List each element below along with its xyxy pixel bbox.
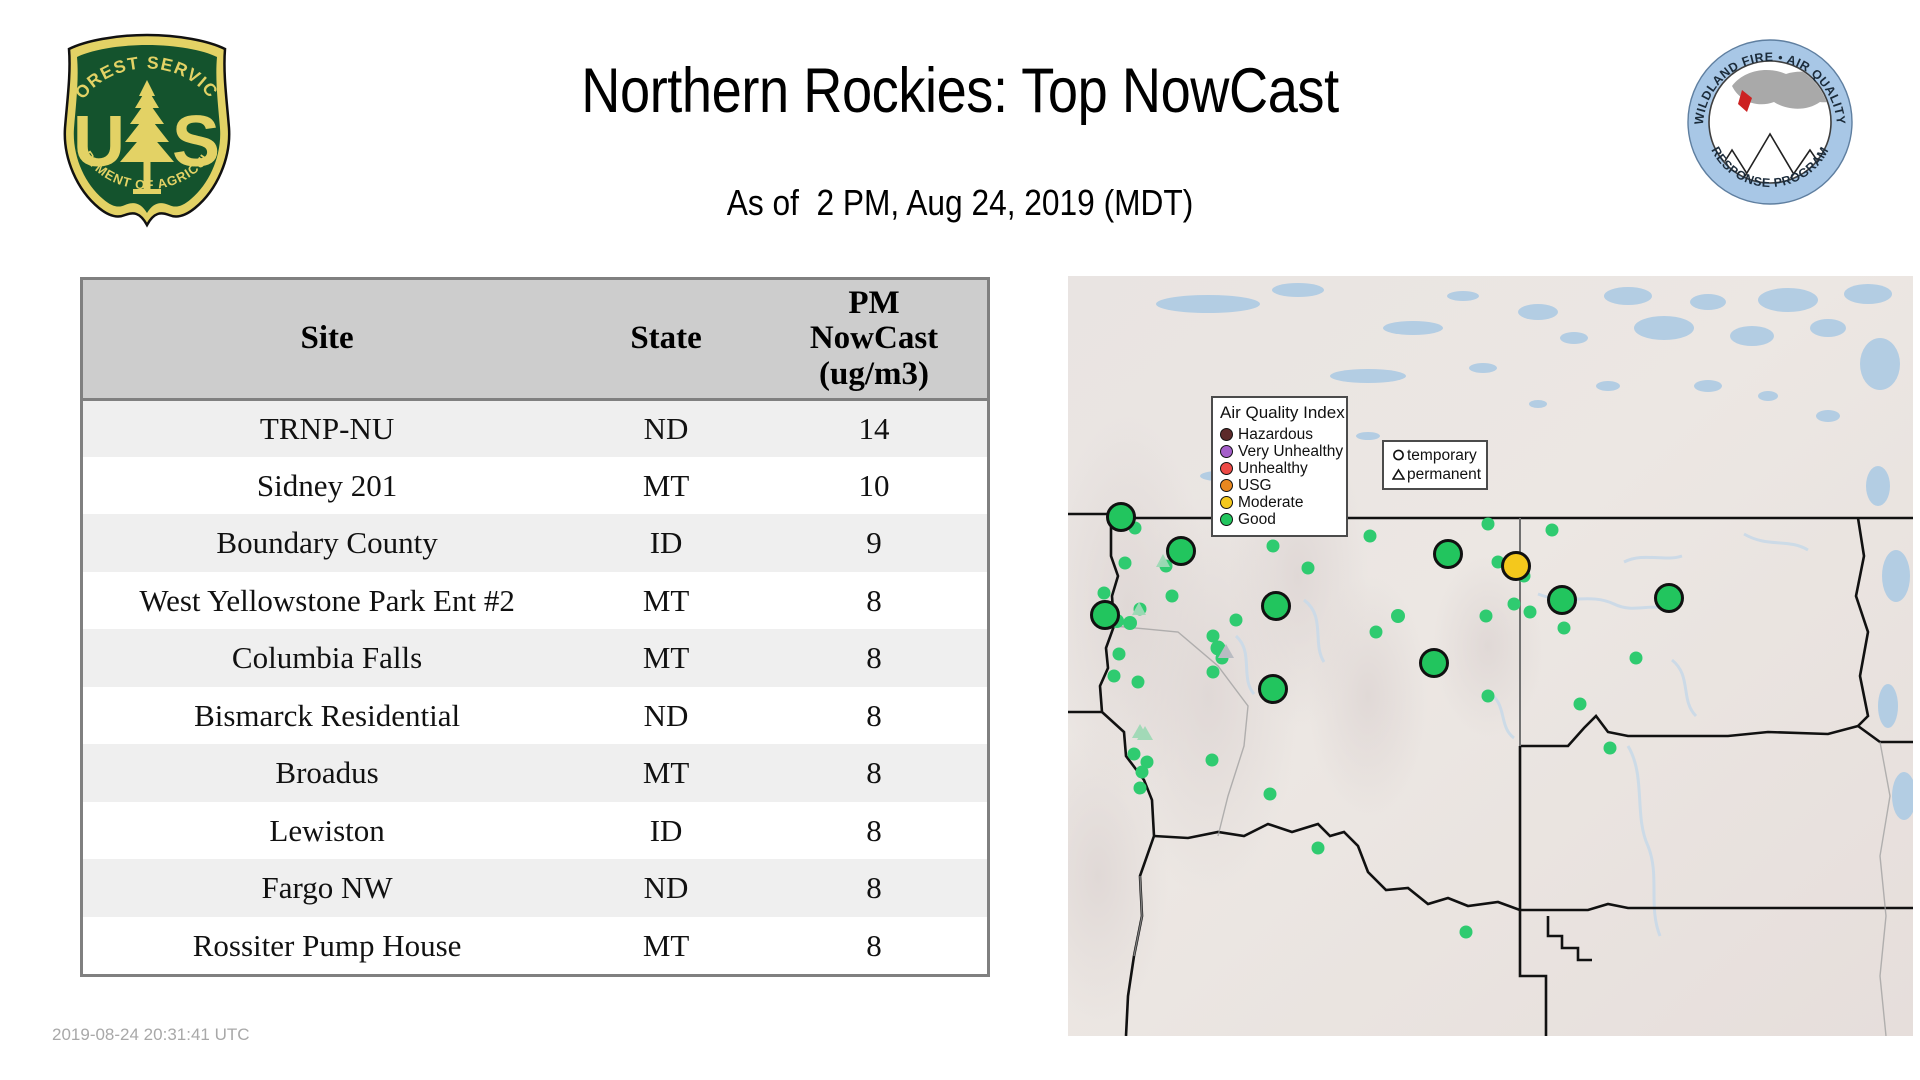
cell-site: Columbia Falls xyxy=(83,629,571,687)
top-site-marker[interactable] xyxy=(1421,650,1448,677)
aqi-legend-row: Unhealthy xyxy=(1220,460,1339,477)
cell-pm-nowcast: 8 xyxy=(761,917,987,975)
cell-state: MT xyxy=(571,629,761,687)
legend-row-permanent: permanent xyxy=(1390,465,1480,484)
column-header-site: Site xyxy=(83,280,571,399)
cell-state: MT xyxy=(571,917,761,975)
top-site-marker[interactable] xyxy=(1260,676,1287,703)
aqi-color-swatch-icon xyxy=(1220,513,1233,526)
pm-header-line-1: PM xyxy=(765,286,983,321)
table-row: LewistonID8 xyxy=(83,802,987,860)
table-row: Columbia FallsMT8 xyxy=(83,629,987,687)
aqi-legend-label: Hazardous xyxy=(1238,426,1313,444)
cell-state: ID xyxy=(571,514,761,572)
top-site-marker[interactable] xyxy=(1168,538,1195,565)
cell-site: Lewiston xyxy=(83,802,571,860)
cell-pm-nowcast: 8 xyxy=(761,744,987,802)
aqi-legend-label: Very Unhealthy xyxy=(1238,443,1343,461)
circle-outline-icon xyxy=(1390,449,1407,462)
top-site-marker[interactable] xyxy=(1263,593,1290,620)
table-row: Bismarck ResidentialND8 xyxy=(83,687,987,745)
aqi-legend-title: Air Quality Index xyxy=(1220,403,1339,423)
column-header-state: State xyxy=(571,280,761,399)
aqi-color-swatch-icon xyxy=(1220,428,1233,441)
cell-pm-nowcast: 8 xyxy=(761,572,987,630)
top-site-marker[interactable] xyxy=(1092,602,1119,629)
aqi-legend: Air Quality Index HazardousVery Unhealth… xyxy=(1211,396,1348,537)
cell-site: Boundary County xyxy=(83,514,571,572)
table-body: TRNP-NUND14Sidney 201MT10Boundary County… xyxy=(83,399,987,974)
aqi-legend-label: Moderate xyxy=(1238,494,1303,512)
top-site-marker[interactable] xyxy=(1503,553,1530,580)
table-row: TRNP-NUND14 xyxy=(83,399,987,457)
table-row: West Yellowstone Park Ent #2MT8 xyxy=(83,572,987,630)
cell-state: ND xyxy=(571,399,761,457)
top-site-marker[interactable] xyxy=(1656,585,1683,612)
site-type-legend: temporary permanent xyxy=(1382,440,1488,490)
cell-site: Broadus xyxy=(83,744,571,802)
page-subtitle: As of 2 PM, Aug 24, 2019 (MDT) xyxy=(379,182,1541,224)
cell-state: MT xyxy=(571,744,761,802)
aqi-legend-label: Good xyxy=(1238,511,1276,529)
cell-site: Fargo NW xyxy=(83,859,571,917)
aqi-legend-row: Hazardous xyxy=(1220,426,1339,443)
cell-pm-nowcast: 9 xyxy=(761,514,987,572)
aqi-color-swatch-icon xyxy=(1220,445,1233,458)
cell-state: ID xyxy=(571,802,761,860)
aqi-color-swatch-icon xyxy=(1220,496,1233,509)
air-quality-map[interactable] xyxy=(1068,276,1913,1036)
wildland-fire-air-quality-seal: WILDLAND FIRE • AIR QUALITY RESPONSE PRO… xyxy=(1686,38,1854,206)
top-site-marker[interactable] xyxy=(1549,587,1576,614)
legend-row-temporary: temporary xyxy=(1390,446,1480,465)
aqi-legend-row: USG xyxy=(1220,477,1339,494)
table-row: Boundary CountyID9 xyxy=(83,514,987,572)
slide-root: FOREST SERVICE U S DEPARTMENT OF AGRICUL… xyxy=(0,0,1920,1080)
aqi-legend-row: Very Unhealthy xyxy=(1220,443,1339,460)
aqi-legend-label: Unhealthy xyxy=(1238,460,1308,478)
aqi-legend-row: Moderate xyxy=(1220,494,1339,511)
table-row: Rossiter Pump HouseMT8 xyxy=(83,917,987,975)
aqi-legend-row: Good xyxy=(1220,511,1339,528)
cell-pm-nowcast: 8 xyxy=(761,629,987,687)
column-header-pm-nowcast: PM NowCast (ug/m3) xyxy=(761,280,987,399)
table-row: Fargo NWND8 xyxy=(83,859,987,917)
top-site-marker[interactable] xyxy=(1108,504,1135,531)
cell-pm-nowcast: 8 xyxy=(761,802,987,860)
aqi-legend-label: USG xyxy=(1238,477,1272,495)
top-nowcast-table: Site State PM NowCast (ug/m3) TRNP-NUND1… xyxy=(80,277,990,977)
table-header-row: Site State PM NowCast (ug/m3) xyxy=(83,280,987,399)
cell-site: Bismarck Residential xyxy=(83,687,571,745)
aqi-color-swatch-icon xyxy=(1220,479,1233,492)
cell-pm-nowcast: 8 xyxy=(761,687,987,745)
table-row: BroadusMT8 xyxy=(83,744,987,802)
cell-site: West Yellowstone Park Ent #2 xyxy=(83,572,571,630)
legend-label-temporary: temporary xyxy=(1407,447,1477,465)
triangle-outline-icon xyxy=(1390,468,1407,481)
cell-site: Sidney 201 xyxy=(83,457,571,515)
cell-state: ND xyxy=(571,687,761,745)
cell-pm-nowcast: 10 xyxy=(761,457,987,515)
cell-site: Rossiter Pump House xyxy=(83,917,571,975)
top-site-marker[interactable] xyxy=(1435,541,1462,568)
aqi-color-swatch-icon xyxy=(1220,462,1233,475)
legend-label-permanent: permanent xyxy=(1407,466,1481,484)
cell-state: MT xyxy=(571,457,761,515)
pm-header-line-3: (ug/m3) xyxy=(765,357,983,392)
footer-timestamp: 2019-08-24 20:31:41 UTC xyxy=(52,1025,250,1045)
table-row: Sidney 201MT10 xyxy=(83,457,987,515)
cell-state: MT xyxy=(571,572,761,630)
cell-state: ND xyxy=(571,859,761,917)
cell-pm-nowcast: 14 xyxy=(761,399,987,457)
page-title: Northern Rockies: Top NowCast xyxy=(392,55,1527,127)
pm-header-line-2: NowCast xyxy=(765,321,983,356)
cell-pm-nowcast: 8 xyxy=(761,859,987,917)
forest-service-shield-logo: FOREST SERVICE U S DEPARTMENT OF AGRICUL… xyxy=(55,32,240,232)
cell-site: TRNP-NU xyxy=(83,399,571,457)
